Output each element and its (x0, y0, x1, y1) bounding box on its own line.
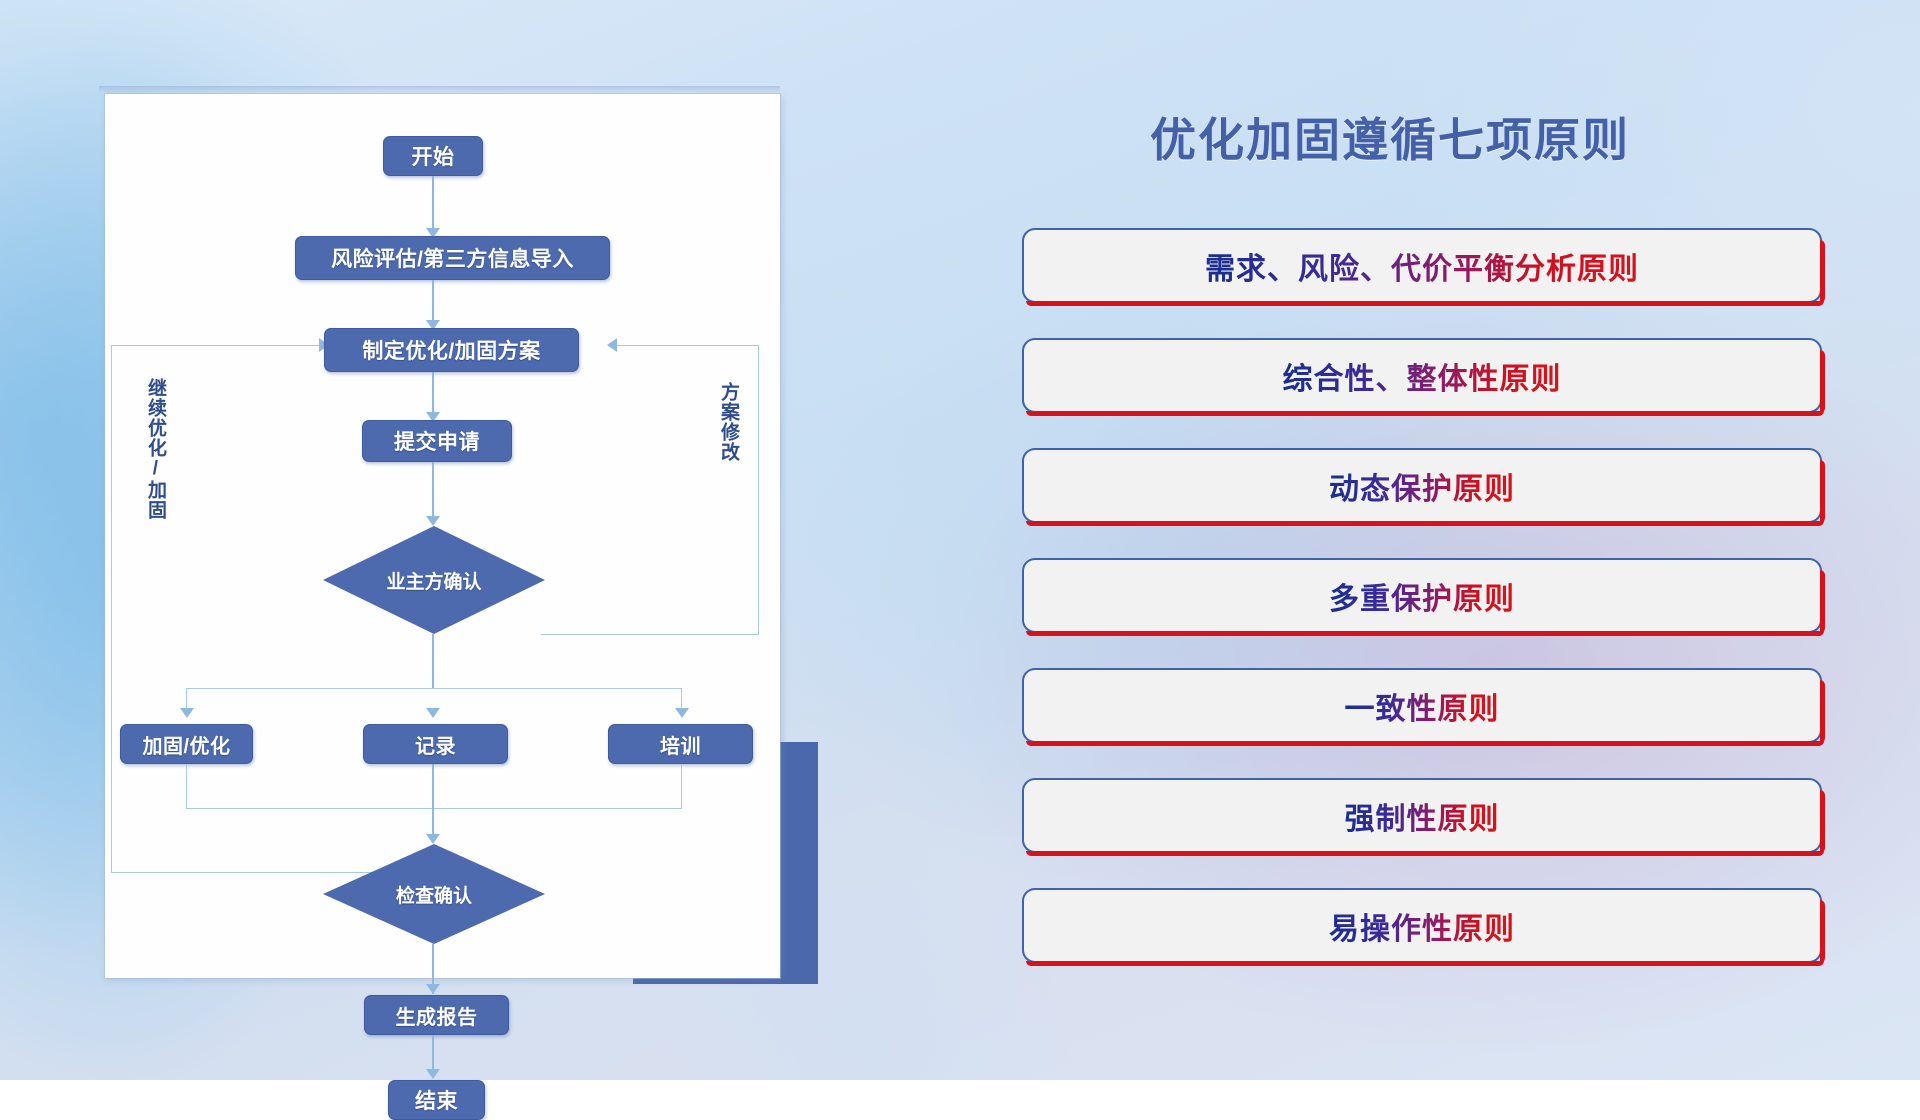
principle-label: 多重保护原则 (1329, 574, 1515, 618)
edge-owner-fanout (186, 688, 681, 689)
node-record[interactable]: 记录 (363, 724, 508, 764)
edge-reinforce-down (186, 764, 187, 809)
node-generate-report[interactable]: 生成报告 (364, 995, 509, 1035)
principle-card[interactable]: 需求、风险、代价平衡分析原则 (1022, 228, 1822, 303)
flowchart-panel: 继续优化/加固 方案修改 开始 风险评估/第三方信息导入 制定优化/加固方案 提… (105, 94, 780, 978)
arrow-submit-to-owner (426, 516, 440, 526)
edge-training-down (681, 764, 682, 809)
arrow-to-record (426, 708, 440, 718)
loop-left-top (111, 345, 323, 346)
node-training[interactable]: 培训 (608, 724, 753, 764)
loop-right-bottom (541, 634, 759, 635)
principle-card[interactable]: 多重保护原则 (1022, 558, 1822, 633)
edge-owner-down (432, 634, 434, 688)
node-inspection-confirm[interactable]: 检查确认 (323, 844, 545, 944)
arrow-report-to-end (426, 1069, 440, 1079)
edge-start-to-risk (432, 176, 434, 236)
node-submit[interactable]: 提交申请 (362, 420, 512, 462)
principles-region: 优化加固遵循七项原则 需求、风险、代价平衡分析原则 综合性、整体性原则 动态保护… (1000, 0, 1920, 1080)
principle-label: 动态保护原则 (1329, 464, 1515, 508)
edge-label-right-loop: 方案修改 (718, 382, 738, 462)
edge-label-left-loop: 继续优化/加固 (145, 378, 165, 520)
principle-label: 综合性、整体性原则 (1283, 354, 1562, 398)
node-owner-confirm-label: 业主方确认 (386, 567, 481, 594)
node-plan[interactable]: 制定优化/加固方案 (324, 328, 579, 372)
page-title: 优化加固遵循七项原则 (1150, 104, 1630, 170)
flowchart-region: 继续优化/加固 方案修改 开始 风险评估/第三方信息导入 制定优化/加固方案 提… (0, 0, 880, 1080)
node-owner-confirm[interactable]: 业主方确认 (323, 526, 545, 634)
arrow-inspection-to-report (426, 984, 440, 994)
loop-right-arrow (607, 338, 617, 352)
principle-label: 需求、风险、代价平衡分析原则 (1205, 244, 1639, 288)
edge-record-down (432, 764, 434, 842)
principle-label: 一致性原则 (1345, 684, 1500, 728)
node-start[interactable]: 开始 (383, 136, 483, 176)
loop-left-rail (111, 345, 112, 872)
principle-card[interactable]: 易操作性原则 (1022, 888, 1822, 963)
loop-right-rail (758, 345, 759, 634)
principle-card[interactable]: 动态保护原则 (1022, 448, 1822, 523)
edge-submit-to-owner (432, 462, 434, 524)
node-end[interactable]: 结束 (388, 1080, 485, 1120)
arrow-to-inspection (426, 834, 440, 844)
principle-label: 强制性原则 (1345, 794, 1500, 838)
principle-card[interactable]: 强制性原则 (1022, 778, 1822, 853)
node-inspection-confirm-label: 检查确认 (396, 881, 472, 908)
principle-card[interactable]: 一致性原则 (1022, 668, 1822, 743)
node-risk-assessment[interactable]: 风险评估/第三方信息导入 (295, 236, 610, 280)
principles-list: 需求、风险、代价平衡分析原则 综合性、整体性原则 动态保护原则 多重保护原则 一… (1022, 228, 1822, 998)
arrow-to-reinforce (180, 708, 194, 718)
principle-card[interactable]: 综合性、整体性原则 (1022, 338, 1822, 413)
loop-right-top (617, 345, 759, 346)
node-reinforce[interactable]: 加固/优化 (120, 724, 253, 764)
arrow-to-training (675, 708, 689, 718)
principle-label: 易操作性原则 (1329, 904, 1515, 948)
